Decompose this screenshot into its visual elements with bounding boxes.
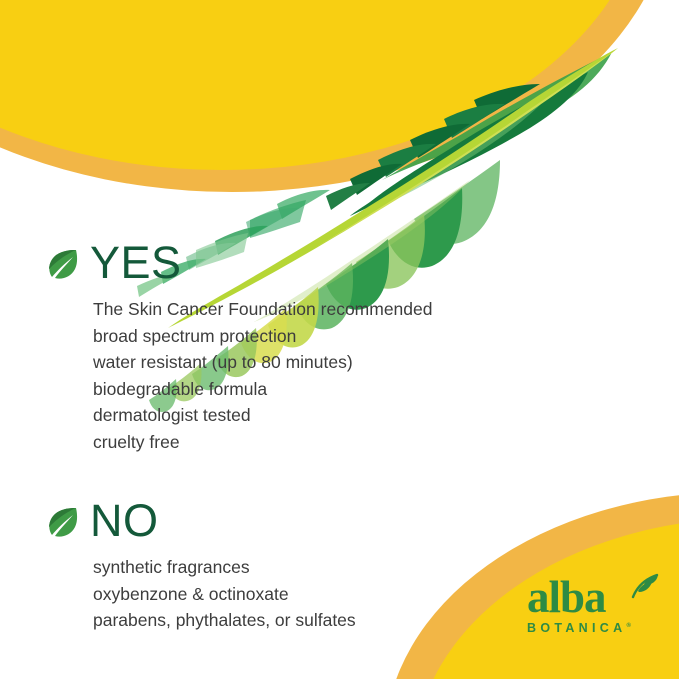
no-heading: NO xyxy=(90,498,159,543)
list-item: oxybenzone & octinoxate xyxy=(93,581,356,608)
list-item: water resistant (up to 80 minutes) xyxy=(93,349,433,376)
yes-heading-row: YES xyxy=(46,236,433,288)
product-infographic: YES The Skin Cancer Foundation recommend… xyxy=(0,0,679,679)
sprig-icon xyxy=(629,573,659,599)
registered-mark: ® xyxy=(626,623,630,629)
list-item: dermatologist tested xyxy=(93,402,433,429)
brand-logo: alba BOTANICA® xyxy=(527,575,667,637)
brand-subtitle-row: BOTANICA® xyxy=(527,621,631,635)
yes-list: The Skin Cancer Foundation recommended b… xyxy=(93,296,433,455)
brand-wordmark: alba xyxy=(527,575,606,619)
no-section: NO synthetic fragrances oxybenzone & oct… xyxy=(46,494,356,634)
list-item: parabens, phythalates, or sulfates xyxy=(93,607,356,634)
content-layer: YES The Skin Cancer Foundation recommend… xyxy=(0,0,679,679)
leaf-icon xyxy=(46,505,80,539)
list-item: synthetic fragrances xyxy=(93,554,356,581)
yes-section: YES The Skin Cancer Foundation recommend… xyxy=(46,236,433,455)
brand-wordmark-row: alba xyxy=(527,575,667,619)
no-heading-row: NO xyxy=(46,494,356,546)
yes-heading: YES xyxy=(90,240,182,285)
list-item: biodegradable formula xyxy=(93,376,433,403)
leaf-icon xyxy=(46,247,80,281)
list-item: cruelty free xyxy=(93,429,433,456)
no-list: synthetic fragrances oxybenzone & octino… xyxy=(93,554,356,634)
brand-subtitle: BOTANICA xyxy=(527,621,626,635)
list-item: The Skin Cancer Foundation recommended xyxy=(93,296,433,323)
list-item: broad spectrum protection xyxy=(93,323,433,350)
